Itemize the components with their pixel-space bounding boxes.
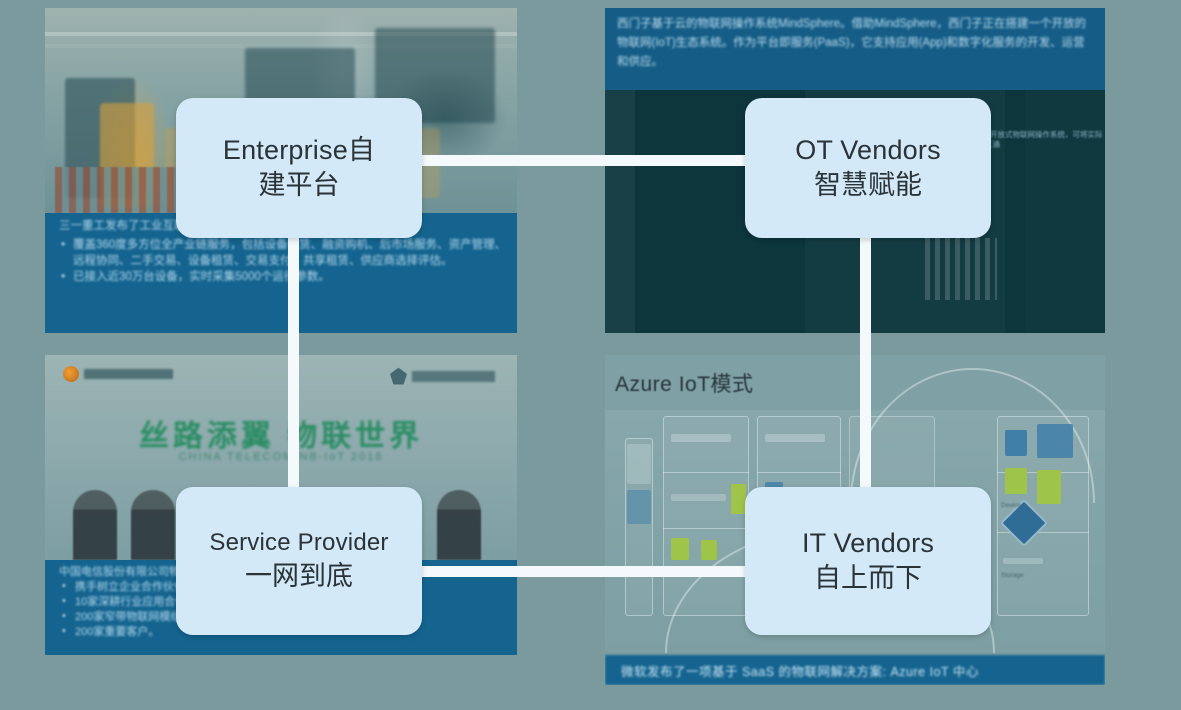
tl-bullet-list: 覆盖360度多方位全产业链服务，包括设备租赁、融资购机、后市场服务、资产管理、远… — [59, 237, 507, 285]
mindsphere-caption-band: 西门子基于云的物联网操作系统MindSphere。借助MindSphere，西门… — [605, 8, 1105, 90]
list-item: 已接入近30万台设备，实时采集5000个运行参数。 — [59, 269, 507, 285]
callout-line2: 智慧赋能 — [814, 170, 922, 202]
list-item: 覆盖360度多方位全产业链服务，包括设备租赁、融资购机、后市场服务、资产管理、远… — [59, 237, 507, 269]
tianyi-iot-logo — [63, 365, 173, 383]
callout-service-provider[interactable]: Service Provider 一网到底 — [176, 487, 422, 635]
callout-enterprise[interactable]: Enterprise自 建平台 — [176, 98, 422, 238]
callout-it-vendors[interactable]: IT Vendors 自上而下 — [745, 487, 991, 635]
banner-headline: 丝路添翼 物联世界 — [45, 411, 517, 455]
callout-line2: 一网到底 — [245, 561, 353, 593]
azure-iot-mode-title: Azure IoT模式 — [615, 368, 754, 398]
banner-subhead: CHINA TELECOM NB-IoT 2018 — [45, 451, 517, 463]
callout-line2: 自上而下 — [814, 563, 922, 595]
tr-caption: 西门子基于云的物联网操作系统MindSphere。借助MindSphere，西门… — [617, 15, 1093, 72]
china-telecom-logo — [390, 365, 495, 387]
diagram-canvas: 三一重工发布了工业互联网平台 覆盖360度多方位全产业链服务，包括设备租赁、融资… — [0, 0, 1181, 710]
callout-line1: Service Provider — [209, 529, 388, 557]
mindsphere-chart — [925, 238, 997, 300]
callout-line1: IT Vendors — [802, 528, 934, 560]
callout-line1: Enterprise自 — [223, 135, 375, 167]
callout-ot-vendors[interactable]: OT Vendors 智慧赋能 — [745, 98, 991, 238]
azure-caption-bar: 微软发布了一项基于 SaaS 的物联网解决方案: Azure IoT 中心 — [605, 655, 1105, 685]
callout-line1: OT Vendors — [795, 135, 941, 167]
callout-line2: 建平台 — [259, 170, 340, 202]
